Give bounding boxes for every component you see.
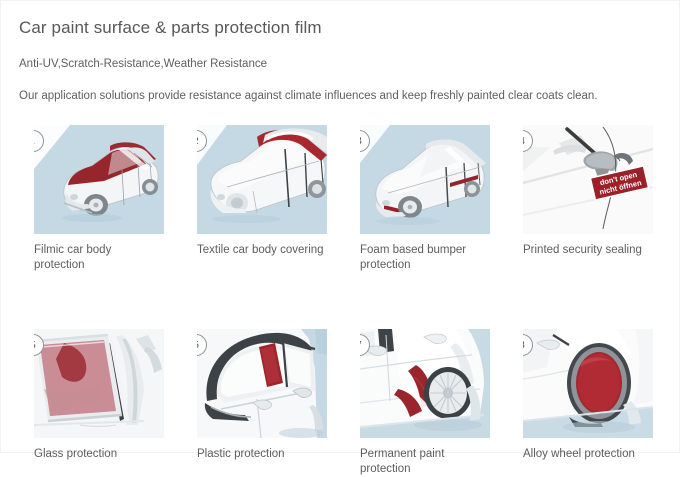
feature-card-4[interactable]: don't open nicht öffnen 4 Printed securi… [523,125,653,273]
car-front-red-hood-icon [34,125,164,234]
page-intro-text: Our application solutions provide resist… [19,89,661,104]
alloy-wheel-cover-icon [523,329,653,438]
feature-card-6[interactable]: 6 Plastic protection [197,329,327,477]
feature-caption-2: Textile car body covering [197,243,327,258]
feature-caption-7: Permanent paint protection [360,447,490,477]
feature-caption-5: Glass protection [34,447,164,462]
feature-grid: 1 Filmic car body protection [34,125,656,477]
feature-row-1: 1 Filmic car body protection [34,125,656,273]
feature-card-7[interactable]: 7 Permanent paint protection [360,329,490,477]
feature-thumb-5: 5 [34,329,164,438]
feature-card-1[interactable]: 1 Filmic car body protection [34,125,164,273]
window-glass-film-icon [34,329,164,438]
page-root: Car paint surface & parts protection fil… [0,0,680,453]
feature-card-2[interactable]: 2 Textile car body covering [197,125,327,273]
feature-thumb-8: 8 [523,329,653,438]
feature-card-8[interactable]: 8 Alloy wheel protection [523,329,653,477]
door-handle-seal-icon: don't open nicht öffnen [523,125,653,234]
feature-card-5[interactable]: 5 Glass protection [34,329,164,477]
feature-card-3[interactable]: 3 Foam based bumper protection [360,125,490,273]
rocker-panel-paint-icon [360,329,490,438]
feature-caption-1: Filmic car body protection [34,243,164,273]
door-pillar-plastic-icon [197,329,327,438]
feature-thumb-7: 7 [360,329,490,438]
page-header: Car paint surface & parts protection fil… [1,1,679,104]
feature-thumb-6: 6 [197,329,327,438]
feature-caption-8: Alloy wheel protection [523,447,653,462]
car-bumper-foam-icon [360,125,490,234]
feature-caption-4: Printed security sealing [523,243,653,258]
feature-caption-3: Foam based bumper protection [360,243,490,273]
feature-thumb-2: 2 [197,125,327,234]
page-subtitle: Anti-UV,Scratch-Resistance,Weather Resis… [19,57,661,72]
page-title: Car paint surface & parts protection fil… [19,17,661,39]
feature-thumb-3: 3 [360,125,490,234]
car-textile-cover-icon [197,125,327,234]
feature-caption-6: Plastic protection [197,447,327,462]
feature-thumb-4: don't open nicht öffnen 4 [523,125,653,234]
feature-row-2: 5 Glass protection [34,329,656,477]
feature-thumb-1: 1 [34,125,164,234]
